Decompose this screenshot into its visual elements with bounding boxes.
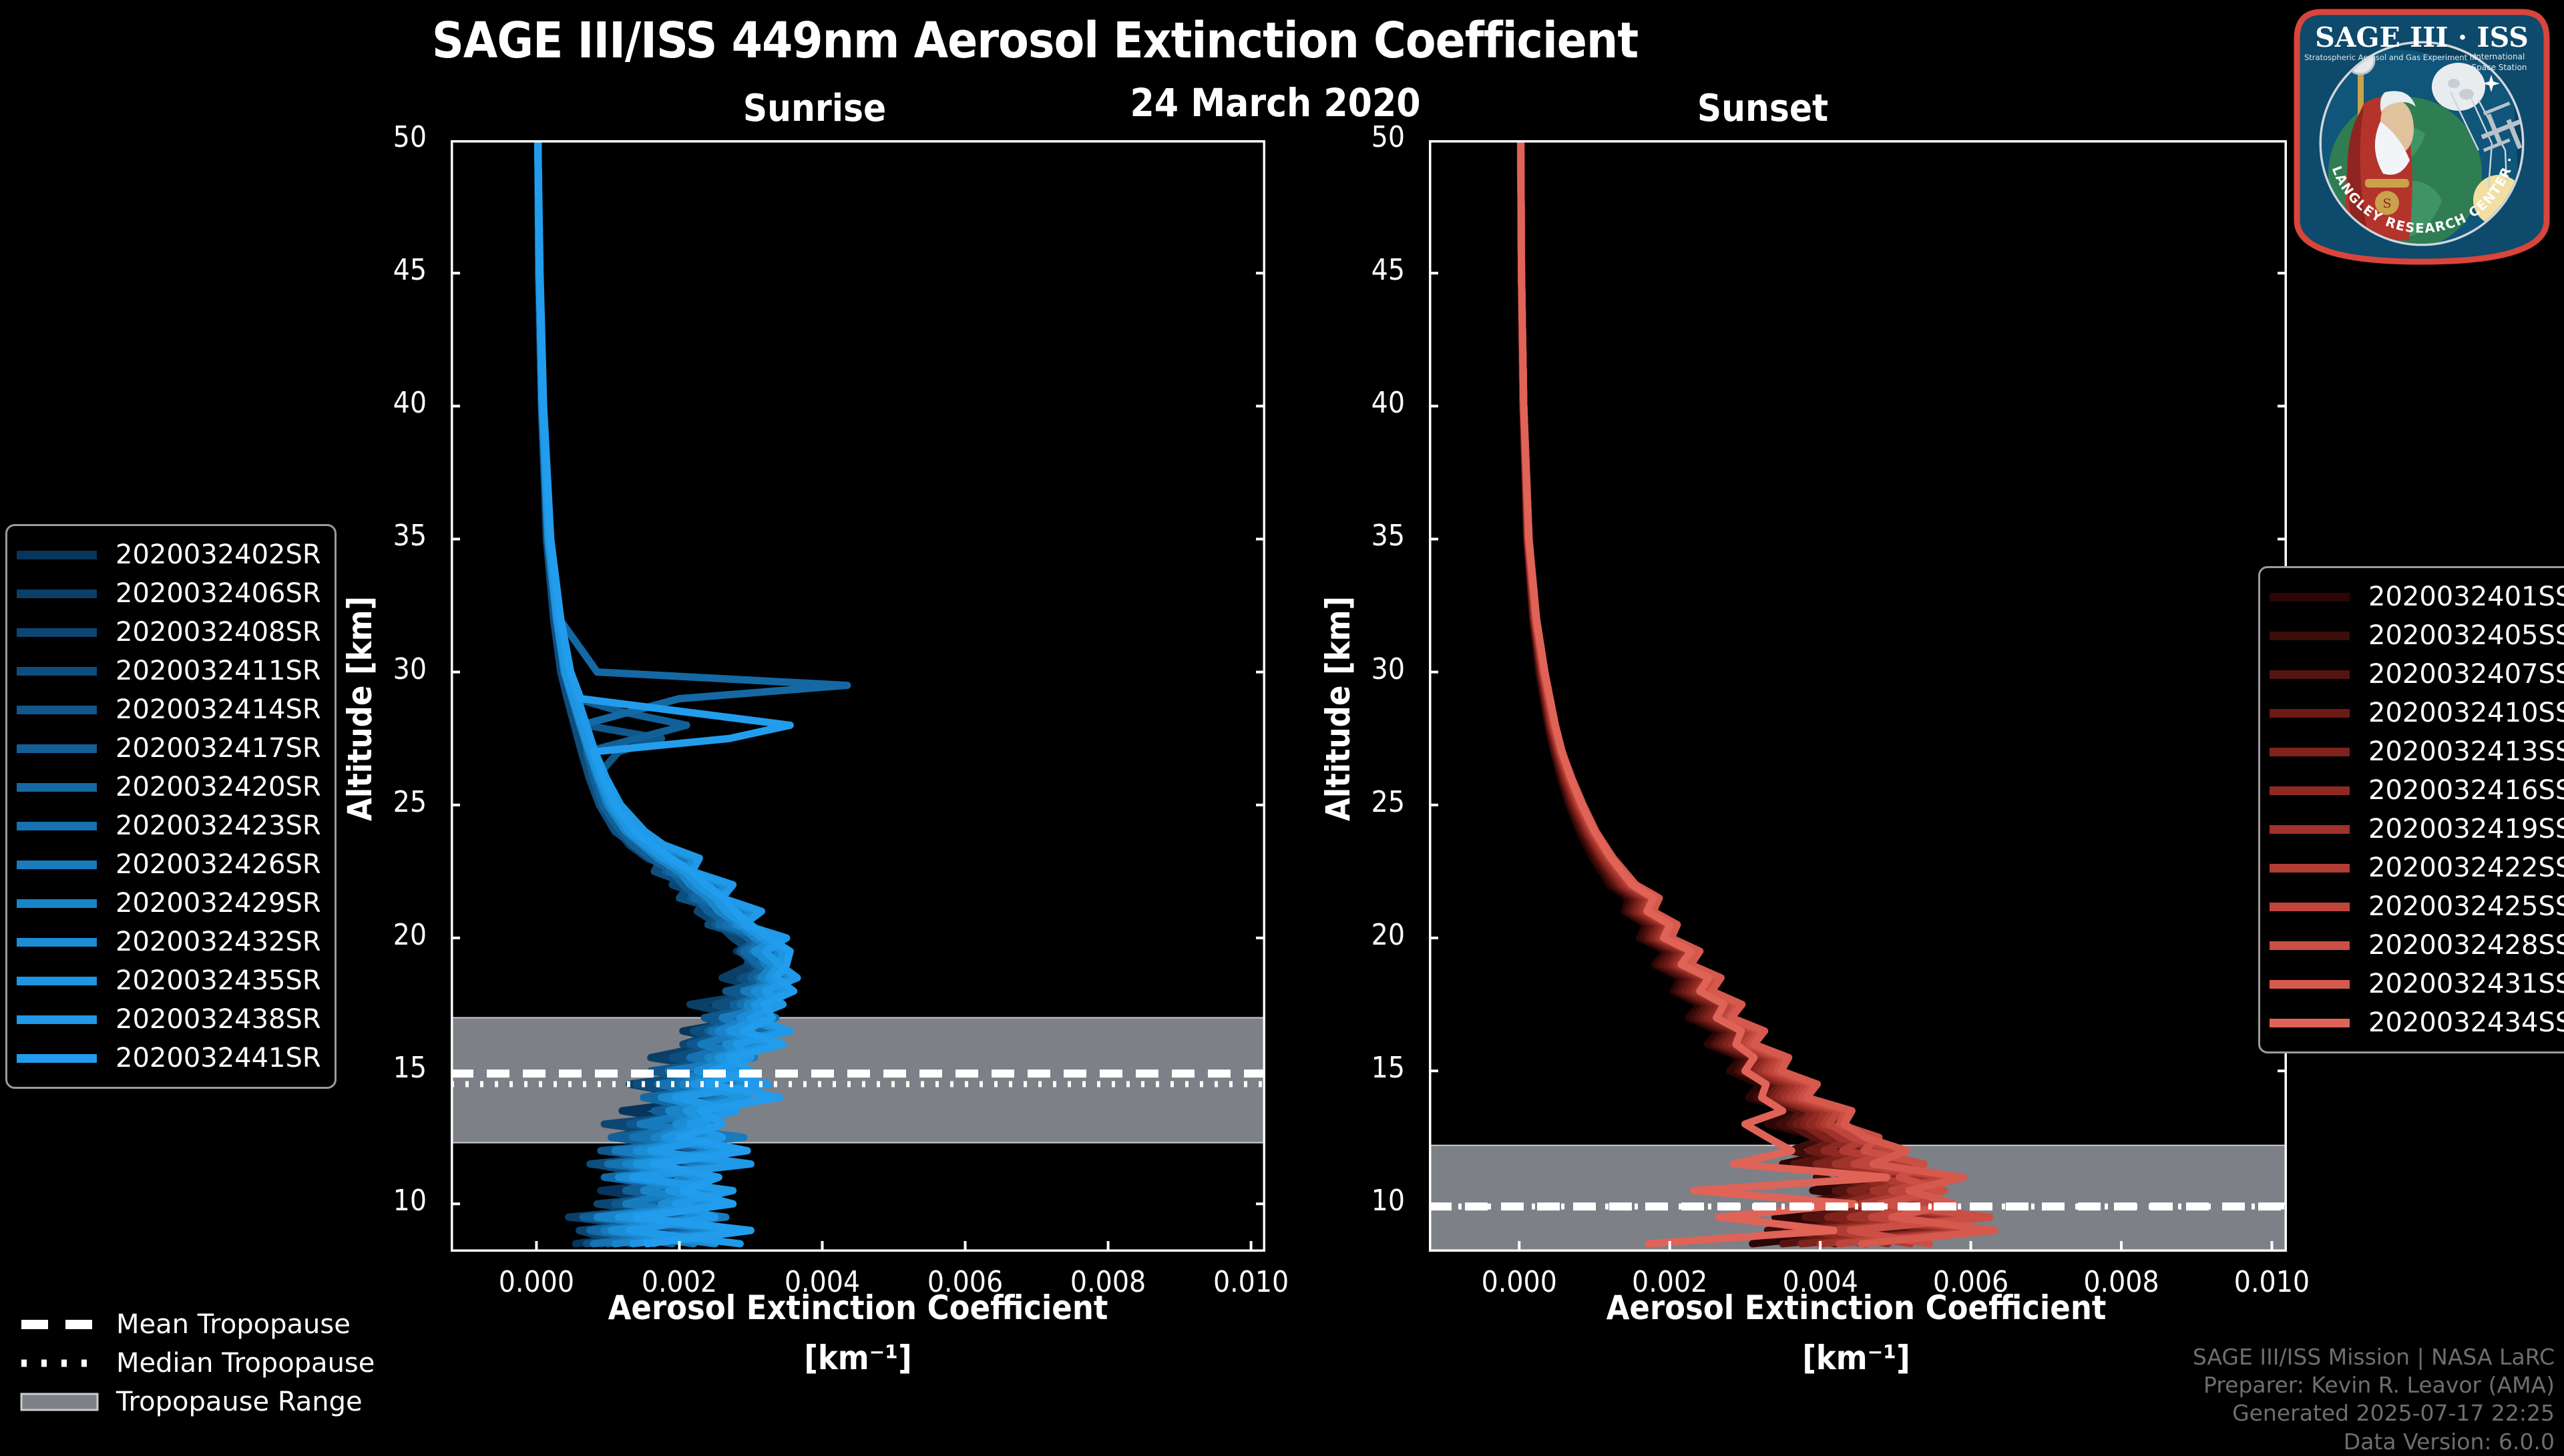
legend-item[interactable]: 2020032438SR	[17, 1000, 321, 1039]
legend-item[interactable]: 2020032435SR	[17, 961, 321, 1000]
tropopause-legend-label: Mean Tropopause	[116, 1309, 351, 1340]
tropopause-legend-item: Tropopause Range	[20, 1383, 375, 1421]
sunset-legend[interactable]: 2020032401SS2020032405SS2020032407SS2020…	[2258, 566, 2564, 1053]
legend-item[interactable]: 2020032428SS	[2270, 926, 2564, 965]
page-subtitle: 24 March 2020	[1042, 80, 1509, 126]
legend-item[interactable]: 2020032426SR	[17, 845, 321, 884]
legend-color-swatch	[17, 551, 97, 559]
legend-item-label: 2020032422SS	[2368, 853, 2564, 883]
legend-item[interactable]: 2020032422SS	[2270, 848, 2564, 887]
legend-color-swatch	[17, 822, 97, 830]
legend-item[interactable]: 2020032432SR	[17, 923, 321, 961]
legend-item-label: 2020032426SR	[116, 849, 321, 880]
sunset-y-axis-label: Altitude [km]	[1319, 596, 1357, 821]
legend-item-label: 2020032438SR	[116, 1004, 321, 1035]
legend-color-swatch	[17, 861, 97, 869]
legend-color-swatch	[2270, 903, 2350, 911]
credits-block: SAGE III/ISS Mission | NASA LaRCPreparer…	[2193, 1343, 2555, 1456]
credits-line: SAGE III/ISS Mission | NASA LaRC	[2193, 1343, 2555, 1371]
legend-item[interactable]: 2020032406SR	[17, 574, 321, 613]
legend-color-swatch	[2270, 941, 2350, 950]
profile-line	[1521, 140, 1904, 1244]
legend-color-swatch	[2270, 980, 2350, 989]
legend-item-label: 2020032432SR	[116, 927, 321, 957]
tropopause-legend-label: Median Tropopause	[116, 1348, 375, 1379]
sunrise-y-axis-label: Altitude [km]	[341, 596, 379, 821]
tropopause-range-band	[451, 1017, 1265, 1142]
legend-item[interactable]: 2020032401SS	[2270, 577, 2564, 616]
legend-item[interactable]: 2020032402SR	[17, 535, 321, 574]
legend-color-swatch	[17, 744, 97, 753]
legend-item[interactable]: 2020032410SS	[2270, 694, 2564, 732]
legend-color-swatch	[2270, 593, 2350, 601]
page-title: SAGE III/ISS 449nm Aerosol Extinction Co…	[0, 12, 2070, 69]
profile-line	[1521, 140, 1887, 1244]
legend-color-swatch	[17, 783, 97, 792]
legend-color-swatch	[2270, 825, 2350, 834]
legend-item-label: 2020032441SR	[116, 1043, 321, 1073]
legend-item-label: 2020032429SR	[116, 888, 321, 919]
legend-item-label: 2020032413SS	[2368, 736, 2564, 767]
legend-color-swatch	[17, 1054, 97, 1063]
svg-text:International: International	[2474, 52, 2525, 61]
legend-item-label: 2020032410SS	[2368, 698, 2564, 728]
tropopause-legend: Mean TropopauseMedian TropopauseTropopau…	[20, 1305, 375, 1421]
legend-item-label: 2020032428SS	[2368, 930, 2564, 961]
legend-item[interactable]: 2020032441SR	[17, 1039, 321, 1077]
legend-item-label: 2020032416SS	[2368, 775, 2564, 806]
legend-color-swatch	[17, 938, 97, 947]
legend-color-swatch	[17, 589, 97, 598]
legend-item[interactable]: 2020032425SS	[2270, 887, 2564, 926]
legend-color-swatch	[2270, 786, 2350, 795]
sunrise-x-axis-label: Aerosol Extinction Coefficient	[491, 1288, 1225, 1327]
sunset-x-axis-units: [km⁻¹]	[1489, 1339, 2223, 1377]
legend-color-swatch	[2270, 1019, 2350, 1027]
legend-item[interactable]: 2020032431SS	[2270, 965, 2564, 1003]
legend-item-label: 2020032405SS	[2368, 620, 2564, 651]
sunrise-plot[interactable]	[451, 140, 1265, 1252]
sunset-plot[interactable]	[1429, 140, 2287, 1252]
legend-color-swatch	[2270, 632, 2350, 640]
sunset-x-axis-label: Aerosol Extinction Coefficient	[1489, 1288, 2223, 1327]
legend-item[interactable]: 2020032423SR	[17, 806, 321, 845]
legend-item[interactable]: 2020032405SS	[2270, 616, 2564, 655]
legend-item-label: 2020032401SS	[2368, 581, 2564, 612]
legend-color-swatch	[2270, 670, 2350, 679]
legend-item[interactable]: 2020032413SS	[2270, 732, 2564, 771]
legend-item-label: 2020032417SR	[116, 733, 321, 764]
legend-color-swatch	[2270, 864, 2350, 873]
sunrise-panel-title: Sunrise	[641, 87, 988, 130]
mean-tropopause-swatch	[20, 1313, 100, 1336]
legend-item[interactable]: 2020032419SS	[2270, 810, 2564, 848]
median-tropopause-swatch	[20, 1352, 100, 1375]
sunrise-legend[interactable]: 2020032402SR2020032406SR2020032408SR2020…	[5, 524, 337, 1089]
profile-line	[1521, 140, 1926, 1244]
legend-item-label: 2020032402SR	[116, 539, 321, 570]
legend-color-swatch	[17, 1015, 97, 1024]
legend-item-label: 2020032408SR	[116, 617, 321, 648]
svg-text:Stratospheric Aerosol and Gas: Stratospheric Aerosol and Gas Experiment…	[2304, 53, 2477, 62]
legend-color-swatch	[17, 977, 97, 985]
legend-item[interactable]: 2020032411SR	[17, 652, 321, 690]
legend-item[interactable]: 2020032416SS	[2270, 771, 2564, 810]
x-tick-label: 0.010	[2211, 1265, 2332, 1299]
credits-line: Preparer: Kevin R. Leavor (AMA)	[2193, 1371, 2555, 1399]
sunset-panel-title: Sunset	[1589, 87, 1936, 130]
legend-item-label: 2020032423SR	[116, 810, 321, 841]
credits-line: Generated 2025-07-17 22:25	[2193, 1399, 2555, 1427]
legend-item-label: 2020032414SR	[116, 694, 321, 725]
legend-item[interactable]: 2020032408SR	[17, 613, 321, 652]
legend-color-swatch	[17, 899, 97, 908]
legend-color-swatch	[17, 706, 97, 714]
legend-item-label: 2020032431SS	[2368, 969, 2564, 999]
legend-item[interactable]: 2020032407SS	[2270, 655, 2564, 694]
profile-line	[1521, 140, 1952, 1244]
svg-text:Space Station: Space Station	[2471, 63, 2527, 72]
tropopause-legend-label: Tropopause Range	[116, 1387, 363, 1417]
legend-color-swatch	[2270, 709, 2350, 718]
sunrise-x-axis-units: [km⁻¹]	[491, 1339, 1225, 1377]
profile-line	[1521, 140, 1930, 1244]
legend-item[interactable]: 2020032429SR	[17, 884, 321, 923]
legend-item-label: 2020032434SS	[2368, 1007, 2564, 1038]
legend-item-label: 2020032435SR	[116, 965, 321, 996]
sage-iii-iss-logo: S SAGE III · ISS Stratospheric Aerosol a…	[2292, 7, 2552, 267]
svg-text:S: S	[2382, 196, 2391, 211]
legend-item-label: 2020032407SS	[2368, 659, 2564, 690]
legend-item[interactable]: 2020032414SR	[17, 690, 321, 729]
legend-item-label: 2020032425SS	[2368, 891, 2564, 922]
tropopause-legend-item: Mean Tropopause	[20, 1305, 375, 1344]
legend-item-label: 2020032419SS	[2368, 814, 2564, 844]
tropopause-legend-item: Median Tropopause	[20, 1344, 375, 1383]
logo-title: SAGE III · ISS	[2315, 21, 2529, 53]
legend-color-swatch	[17, 628, 97, 637]
legend-item[interactable]: 2020032417SR	[17, 729, 321, 768]
legend-item-label: 2020032420SR	[116, 772, 321, 802]
legend-item-label: 2020032411SR	[116, 656, 321, 686]
tropopause-range-swatch	[20, 1391, 100, 1413]
legend-item[interactable]: 2020032434SS	[2270, 1003, 2564, 1042]
profile-line	[1521, 140, 1911, 1244]
legend-color-swatch	[2270, 748, 2350, 756]
legend-color-swatch	[17, 667, 97, 676]
legend-item[interactable]: 2020032420SR	[17, 768, 321, 806]
plot-frame	[1430, 142, 2286, 1251]
legend-item-label: 2020032406SR	[116, 578, 321, 609]
